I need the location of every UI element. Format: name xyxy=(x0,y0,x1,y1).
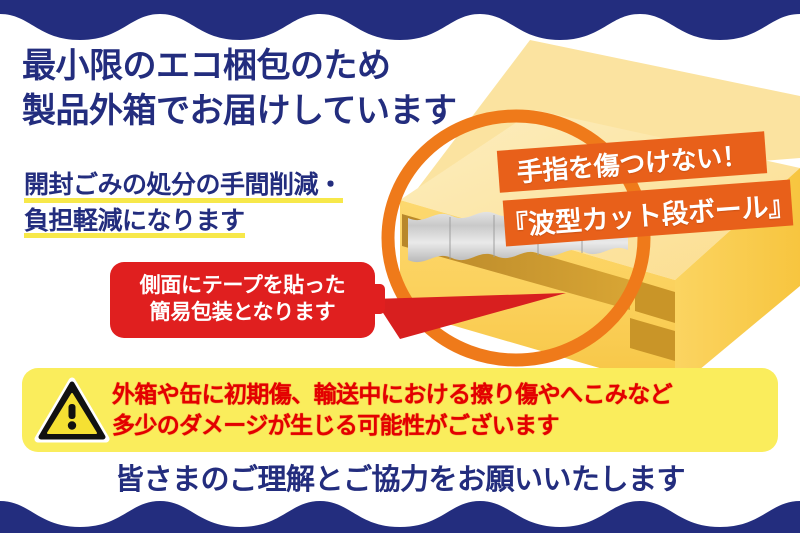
headline-line-2: 製品外箱でお届けしています xyxy=(22,89,552,134)
callout-line-1: 側面にテープを貼った xyxy=(140,273,346,300)
side-tape-callout: 側面にテープを貼った 簡易包装となります xyxy=(110,262,375,338)
callout-line-2: 簡易包装となります xyxy=(150,300,336,327)
warning-triangle-icon xyxy=(34,375,110,445)
warning-line-2: 多少のダメージが生じる可能性がございます xyxy=(112,410,778,441)
page-title: 最小限のエコ梱包のため 製品外箱でお届けしています xyxy=(22,44,552,134)
warning-box: 外箱や缶に初期傷、輸送中における擦り傷やへこみなど 多少のダメージが生じる可能性… xyxy=(22,368,778,452)
eco-packaging-notice-banner: 最小限のエコ梱包のため 製品外箱でお届けしています 開封ごみの処分の手間削減・ … xyxy=(0,0,800,533)
subheading: 開封ごみの処分の手間削減・ 負担軽減になります xyxy=(24,168,343,239)
subheading-line-1-text: 開封ごみの処分の手間削減・ xyxy=(24,171,343,199)
pointer-arrow-icon xyxy=(370,255,600,365)
subheading-line-2: 負担軽減になります xyxy=(24,204,245,240)
subheading-line-1: 開封ごみの処分の手間削減・ xyxy=(24,168,343,204)
warning-text: 外箱や缶に初期傷、輸送中における擦り傷やへこみなど 多少のダメージが生じる可能性… xyxy=(110,379,778,440)
closing-text: 皆さまのご理解とご協力をお願いいたします xyxy=(115,464,685,496)
warning-line-1: 外箱や缶に初期傷、輸送中における擦り傷やへこみなど xyxy=(112,379,778,410)
headline-line-1: 最小限のエコ梱包のため xyxy=(22,44,552,89)
closing-message: 皆さまのご理解とご協力をお願いいたします xyxy=(0,456,800,498)
subheading-line-2-text: 負担軽減になります xyxy=(24,207,245,235)
